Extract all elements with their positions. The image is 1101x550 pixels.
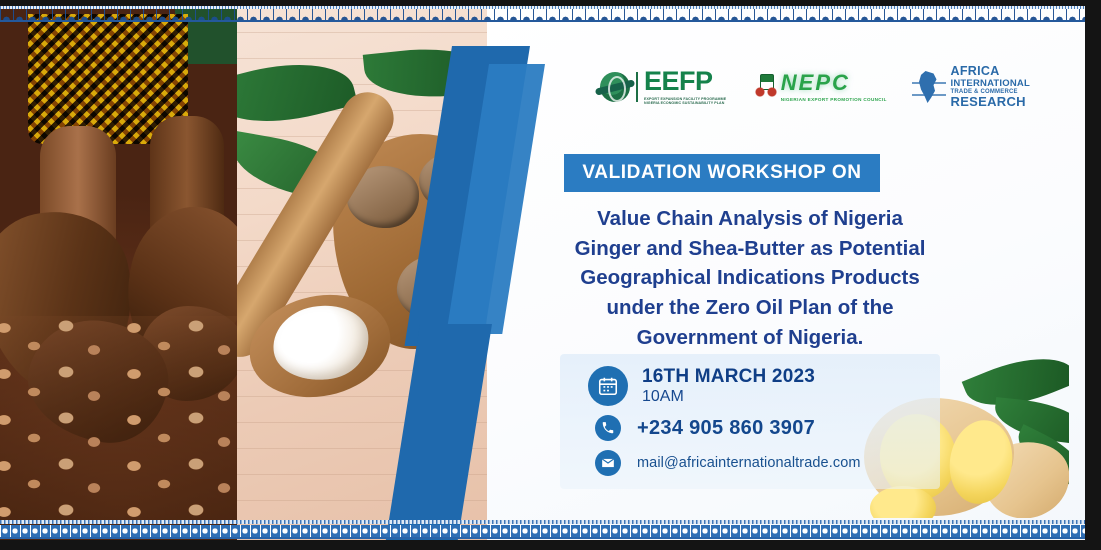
envelope-icon [595,450,621,476]
flyer-root: EEFP EXPORT EXPANSION FACILITY PROGRAMME… [0,0,1101,550]
aitc-line-2: INTERNATIONAL [951,79,1030,89]
event-date: 16TH MARCH 2023 [642,366,815,387]
phone-number: +234 905 860 3907 [637,417,815,440]
nepc-subtitle: NIGERIAN EXPORT PROMOTION COUNCIL [781,98,887,103]
logo-bar: EEFP EXPORT EXPANSION FACILITY PROGRAMME… [600,58,1030,116]
aitc-line-1: AFRICA [951,65,1030,78]
logo-africa-international-trade-commerce-research: AFRICA INTERNATIONAL TRADE & COMMERCE RE… [912,65,1030,108]
logo-nepc: NEPC NIGERIAN EXPORT PROMOTION COUNCIL [755,72,887,103]
nigeria-coat-of-arms-icon [755,73,777,101]
bottom-decorative-border [0,518,1085,540]
headline-line-1: Value Chain Analysis of Nigeria [540,204,960,234]
contact-row-phone[interactable]: +234 905 860 3907 [588,415,940,441]
photo-hands-sorting-shea-nuts [0,6,237,540]
event-time: 10AM [642,388,815,406]
logo-eefp: EEFP EXPORT EXPANSION FACILITY PROGRAMME… [600,68,730,105]
flyer-canvas: EEFP EXPORT EXPANSION FACILITY PROGRAMME… [0,6,1085,540]
ribbon-label: VALIDATION WORKSHOP ON [582,162,861,184]
workshop-ribbon: VALIDATION WORKSHOP ON [564,154,880,192]
headline-line-4: under the Zero Oil Plan of the [540,293,960,323]
headline-line-3: Geographical Indications Products [540,263,960,293]
frame-bottom [0,540,1101,550]
eefp-subtitle: EXPORT EXPANSION FACILITY PROGRAMME NIGE… [644,98,730,105]
africa-map-icon [912,70,946,104]
shea-nuts-pile [0,316,237,540]
calendar-icon [588,366,628,406]
logo-divider [636,72,638,102]
eefp-acronym: EEFP [644,68,730,95]
top-decorative-border [0,6,1085,22]
headline-line-2: Ginger and Shea-Butter as Potential [540,234,960,264]
nepc-acronym: NEPC [781,72,887,94]
aitc-line-4: RESEARCH [951,95,1030,109]
contact-card: 16TH MARCH 2023 10AM +234 905 860 3907 [560,354,940,489]
phone-icon [595,415,621,441]
headline-line-5: Government of Nigeria. [540,323,960,353]
contact-row-email[interactable]: mail@africainternationaltrade.com [588,450,940,476]
contact-row-date: 16TH MARCH 2023 10AM [588,366,940,406]
globe-wings-icon [600,72,630,102]
frame-top [0,0,1101,6]
headline: Value Chain Analysis of Nigeria Ginger a… [540,204,960,353]
email-address: mail@africainternationaltrade.com [637,455,861,471]
frame-right [1085,0,1101,550]
